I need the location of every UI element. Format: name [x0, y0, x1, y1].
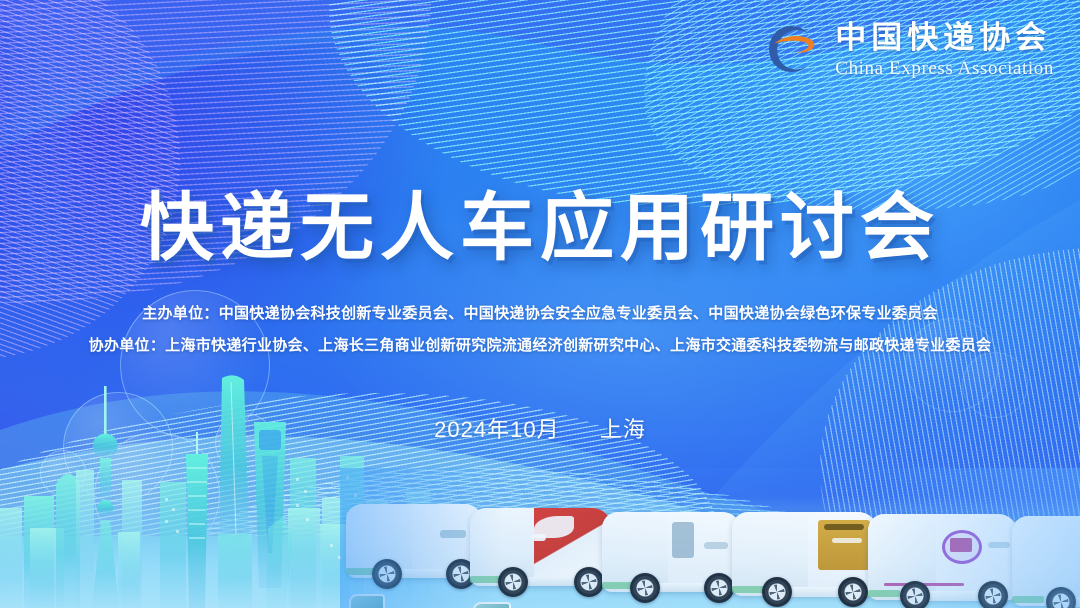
van-decal — [824, 524, 864, 530]
jinmao-tower — [186, 432, 208, 608]
co-organizations-line: 协办单位：上海市快递行业协会、上海长三角商业创新研究院流通经济创新研究中心、上海… — [89, 334, 992, 355]
van-decal — [672, 522, 694, 558]
event-date: 2024年10月 — [434, 417, 559, 442]
poster-title: 快递无人车应用研讨会 — [0, 168, 1080, 275]
van-decal — [440, 530, 466, 538]
china-express-association-logo[interactable]: 中国快递协会 China Express Association — [763, 22, 1054, 78]
shanghai-tower — [218, 375, 252, 608]
van-decal — [532, 534, 546, 541]
association-logo-icon — [763, 22, 821, 78]
van-decal — [950, 538, 972, 552]
logo-wordmark: 中国快递协会 China Express Association — [835, 22, 1054, 78]
conference-poster: 中国快递协会 China Express Association 快递无人车应用… — [0, 0, 1080, 608]
logo-name-en: China Express Association — [835, 59, 1054, 78]
logo-name-cn: 中国快递协会 — [835, 22, 1054, 53]
van-decal — [832, 538, 862, 543]
date-and-location: 2024年10月 上海 — [0, 412, 1080, 444]
event-location: 上海 — [600, 417, 646, 442]
autonomous-delivery-van-fleet — [340, 468, 1080, 608]
van-decal — [988, 542, 1010, 548]
van-decal — [704, 542, 728, 549]
organizer-block: 主办单位：中国快递协会科技创新专业委员会、中国快递协会安全应急专业委员会、中国快… — [0, 302, 1080, 355]
bubble-decoration — [962, 352, 1028, 418]
host-organizations-line: 主办单位：中国快递协会科技创新专业委员会、中国快递协会安全应急专业委员会、中国快… — [142, 302, 938, 323]
